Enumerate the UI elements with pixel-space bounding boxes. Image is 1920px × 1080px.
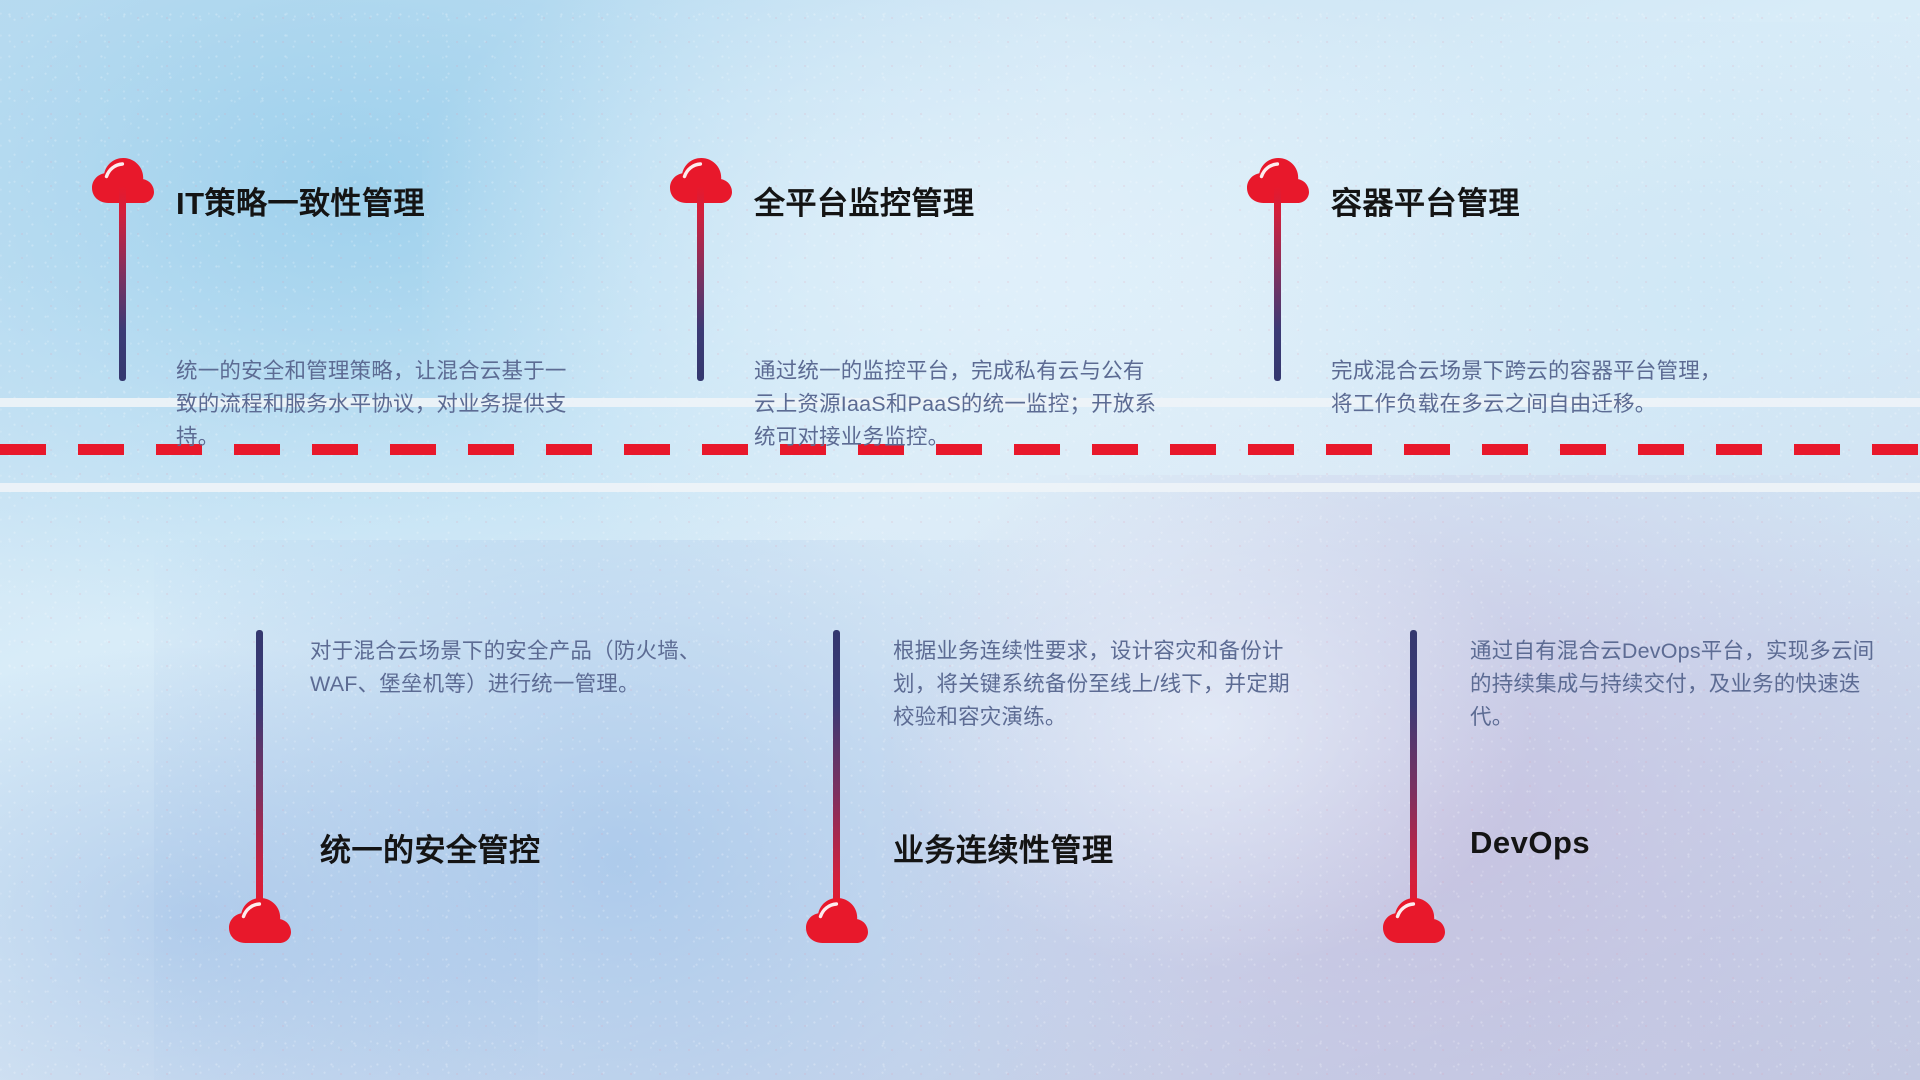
cloud-icon: [806, 898, 868, 944]
card-title: IT策略一致性管理: [176, 178, 425, 223]
cloud-icon: [1383, 898, 1445, 944]
card-title: DevOps: [1470, 825, 1590, 861]
connector-line: [1274, 186, 1281, 381]
connector-line: [119, 186, 126, 381]
card-title: 容器平台管理: [1331, 178, 1520, 223]
card-body: 根据业务连续性要求，设计容灾和备份计划，将关键系统备份至线上/线下，并定期校验和…: [893, 635, 1311, 734]
card-title: 全平台监控管理: [754, 178, 975, 223]
card-body: 通过自有混合云DevOps平台，实现多云间的持续集成与持续交付，及业务的快速迭代…: [1470, 635, 1890, 734]
connector-line: [833, 630, 840, 918]
connector-line: [1410, 630, 1417, 918]
card-title: 业务连续性管理: [893, 825, 1114, 870]
connector-line: [697, 186, 704, 381]
card-body: 对于混合云场景下的安全产品（防火墙、WAF、堡垒机等）进行统一管理。: [310, 635, 730, 701]
card-title: 统一的安全管控: [320, 825, 541, 870]
connector-line: [256, 630, 263, 918]
card-body: 通过统一的监控平台，完成私有云与公有云上资源IaaS和PaaS的统一监控；开放系…: [754, 355, 1164, 454]
divider-rule-bottom: [0, 483, 1920, 492]
card-body: 统一的安全和管理策略，让混合云基于一致的流程和服务水平协议，对业务提供支持。: [176, 355, 584, 454]
card-body: 完成混合云场景下跨云的容器平台管理，将工作负载在多云之间自由迁移。: [1331, 355, 1741, 421]
cloud-icon: [229, 898, 291, 944]
